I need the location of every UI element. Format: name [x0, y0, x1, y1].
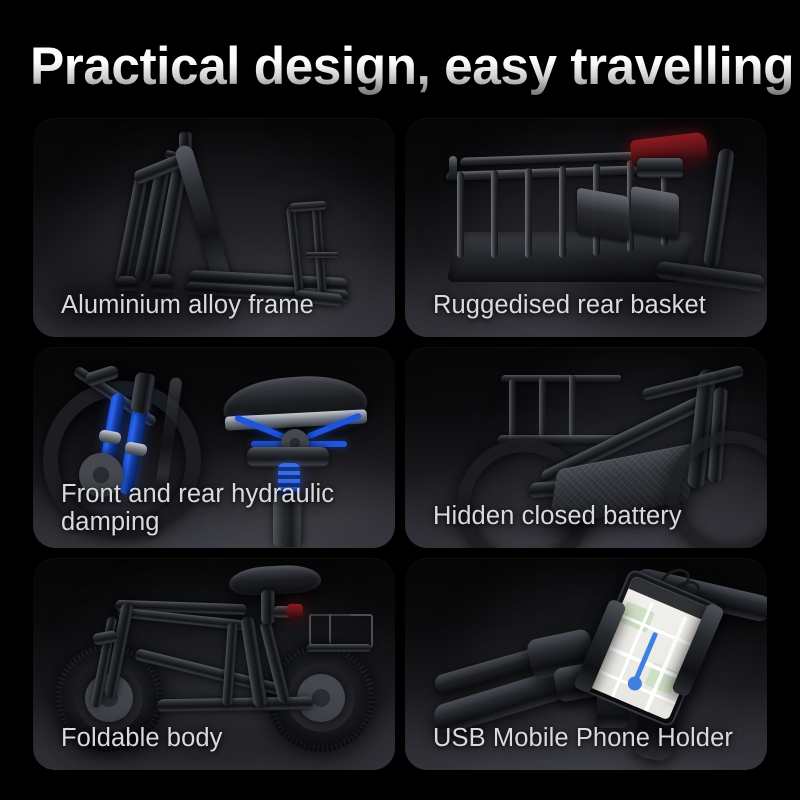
feature-caption-ruggedised-rear-basket: Ruggedised rear basket	[433, 291, 706, 320]
basket-support	[307, 644, 371, 652]
basket-post-2	[491, 170, 498, 258]
top-frame-bar	[641, 365, 745, 402]
mount-plate-right	[631, 186, 679, 240]
basket-rim-silhouette	[500, 375, 622, 382]
feature-card-foldable-body[interactable]: Foldable body	[33, 558, 395, 770]
seat-post	[261, 590, 275, 624]
feature-card-usb-mobile-phone-holder[interactable]: USB Mobile Phone Holder	[405, 558, 767, 770]
basket-rim-left	[449, 156, 457, 180]
basket-post-2	[539, 377, 546, 439]
feature-caption-usb-mobile-phone-holder: USB Mobile Phone Holder	[433, 724, 733, 753]
feature-card-aluminium-alloy-frame[interactable]: Aluminium alloy frame	[33, 118, 395, 337]
basket-post-4	[559, 166, 566, 258]
feature-caption-front-and-rear-hydraulic-damping: Front and rear hydraulic damping	[61, 480, 334, 537]
bottom-deck-tube	[157, 697, 313, 713]
basket-post-1	[509, 379, 516, 441]
feature-caption-hidden-closed-battery: Hidden closed battery	[433, 502, 682, 531]
feature-card-hidden-closed-battery[interactable]: Hidden closed battery	[405, 347, 767, 548]
basket-post-1	[457, 172, 464, 258]
feature-grid: Aluminium alloy frame	[33, 118, 767, 770]
caption-line-2: damping	[61, 508, 334, 537]
feature-caption-foldable-body: Foldable body	[61, 724, 223, 753]
feature-card-front-and-rear-hydraulic-damping[interactable]: Front and rear hydraulic damping	[33, 347, 395, 548]
feature-card-ruggedised-rear-basket[interactable]: Ruggedised rear basket	[405, 118, 767, 337]
basket-post-3	[525, 168, 532, 258]
basket-post-3	[569, 375, 576, 437]
rack-cross-brace	[305, 252, 339, 258]
taillight	[287, 604, 303, 618]
product-feature-poster: Practical design, easy travelling	[0, 0, 800, 800]
mount-plate-left	[577, 187, 629, 242]
rack-top-bridge	[289, 201, 328, 213]
folding-hinge-post	[222, 622, 238, 706]
caption-line-1: Front and rear hydraulic	[61, 480, 334, 509]
saddle	[228, 564, 321, 597]
basket-divider-1	[309, 614, 331, 644]
page-title: Practical design, easy travelling	[30, 36, 794, 97]
taillight-bracket	[637, 158, 683, 178]
basket-divider-2	[329, 614, 351, 644]
feature-caption-aluminium-alloy-frame: Aluminium alloy frame	[61, 291, 314, 320]
